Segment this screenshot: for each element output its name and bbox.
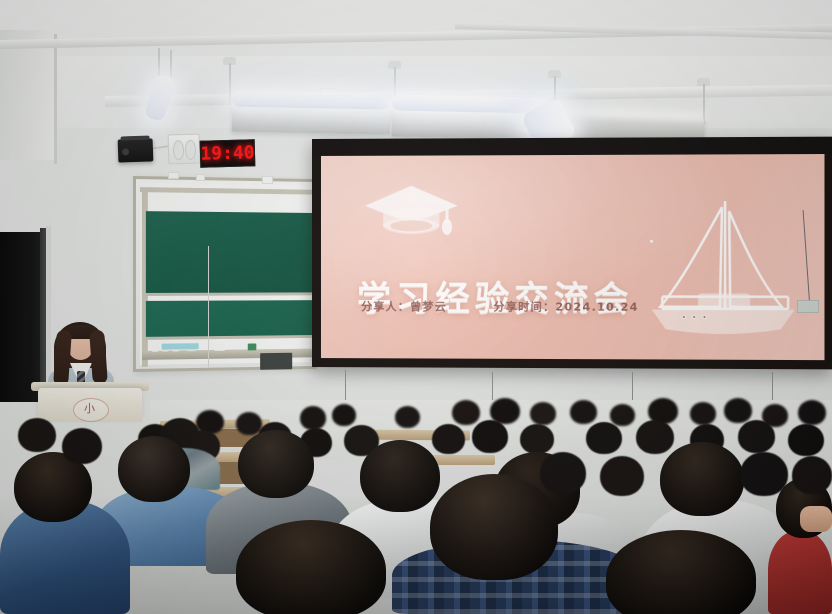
wall-outlet-plate [797, 300, 819, 313]
graduation-cap-icon [363, 182, 460, 246]
audience-head [332, 404, 356, 426]
audience-head [118, 436, 190, 502]
presenter-hair-right [89, 330, 108, 385]
audience-head-front [430, 474, 558, 580]
audience-head [610, 404, 635, 426]
school-emblem-mark: 小 [84, 403, 97, 415]
audience-head [724, 398, 752, 423]
audience-head [530, 402, 556, 425]
eraser [214, 344, 225, 351]
audience-head-front [236, 520, 386, 614]
audience-hand [800, 506, 832, 532]
slide-date-label: 分享时间：2024.10.24 [493, 298, 638, 314]
audience-head [586, 422, 622, 454]
audience-shoulders-red [768, 530, 832, 614]
digital-clock: 19:40 [200, 139, 256, 167]
audience-head [690, 402, 716, 425]
fluorescent-tube-1 [232, 91, 390, 110]
audience-head [788, 424, 824, 456]
light-rod [229, 63, 231, 105]
audience-head [660, 442, 744, 516]
clock-time: 19:40 [200, 144, 255, 163]
audience-head [452, 400, 480, 425]
wall-control-panel [168, 134, 201, 165]
screen-top-bar [312, 137, 832, 156]
audience-head [738, 420, 775, 453]
audience-head [798, 400, 826, 425]
audience-head [570, 400, 597, 424]
sailboat-icon [638, 195, 808, 348]
marker-strip [162, 343, 199, 349]
blackboard [133, 176, 316, 372]
doorway-left [0, 232, 44, 402]
audience-head [792, 456, 832, 494]
wall-cable [208, 246, 209, 368]
slide-surface: 学习经验交流会 分享人：曾梦云 分享时间：2024.10.24 [321, 154, 825, 360]
projection-screen: 学习经验交流会 分享人：曾梦云 分享时间：2024.10.24 [312, 137, 832, 370]
blackboard-panel-upper [146, 211, 314, 296]
blackboard-panel-lower [146, 300, 314, 340]
audience-head [636, 420, 674, 454]
wall-clip [262, 176, 273, 184]
green-marker [248, 343, 257, 350]
wall-speaker-icon [118, 138, 154, 162]
wall-clip [168, 172, 179, 179]
chalk-box [152, 345, 159, 352]
tray-bracket [260, 353, 292, 370]
lecture-hall-photo: 19:40 [0, 0, 832, 614]
audience-head [18, 418, 56, 452]
audience-head [472, 420, 508, 453]
screen-cable [772, 372, 773, 402]
light-rod [158, 48, 160, 76]
audience-head [360, 440, 440, 512]
panel-dial-right [185, 140, 197, 160]
slide-subtitle-row: 分享人：曾梦云 分享时间：2024.10.24 [361, 298, 789, 315]
fluorescent-tube-2 [392, 94, 552, 113]
audience-head [540, 452, 586, 494]
wall-corner-column [0, 30, 56, 160]
slide-accent-dot [650, 240, 653, 243]
audience-head [740, 452, 788, 496]
slide-presenter-label: 分享人：曾梦云 [361, 298, 447, 314]
audience-head [395, 406, 420, 428]
wall-clip [196, 174, 205, 181]
audience-head [520, 424, 554, 454]
audience-head [432, 424, 465, 454]
audience-head [238, 430, 314, 498]
audience-head [62, 428, 102, 464]
audience-head [300, 406, 326, 430]
wall-corner-edge [54, 34, 57, 164]
slide-title: 学习经验交流会 [357, 271, 702, 321]
audience-head [600, 456, 644, 496]
panel-dial-left [173, 140, 185, 160]
light-rod [170, 50, 172, 78]
